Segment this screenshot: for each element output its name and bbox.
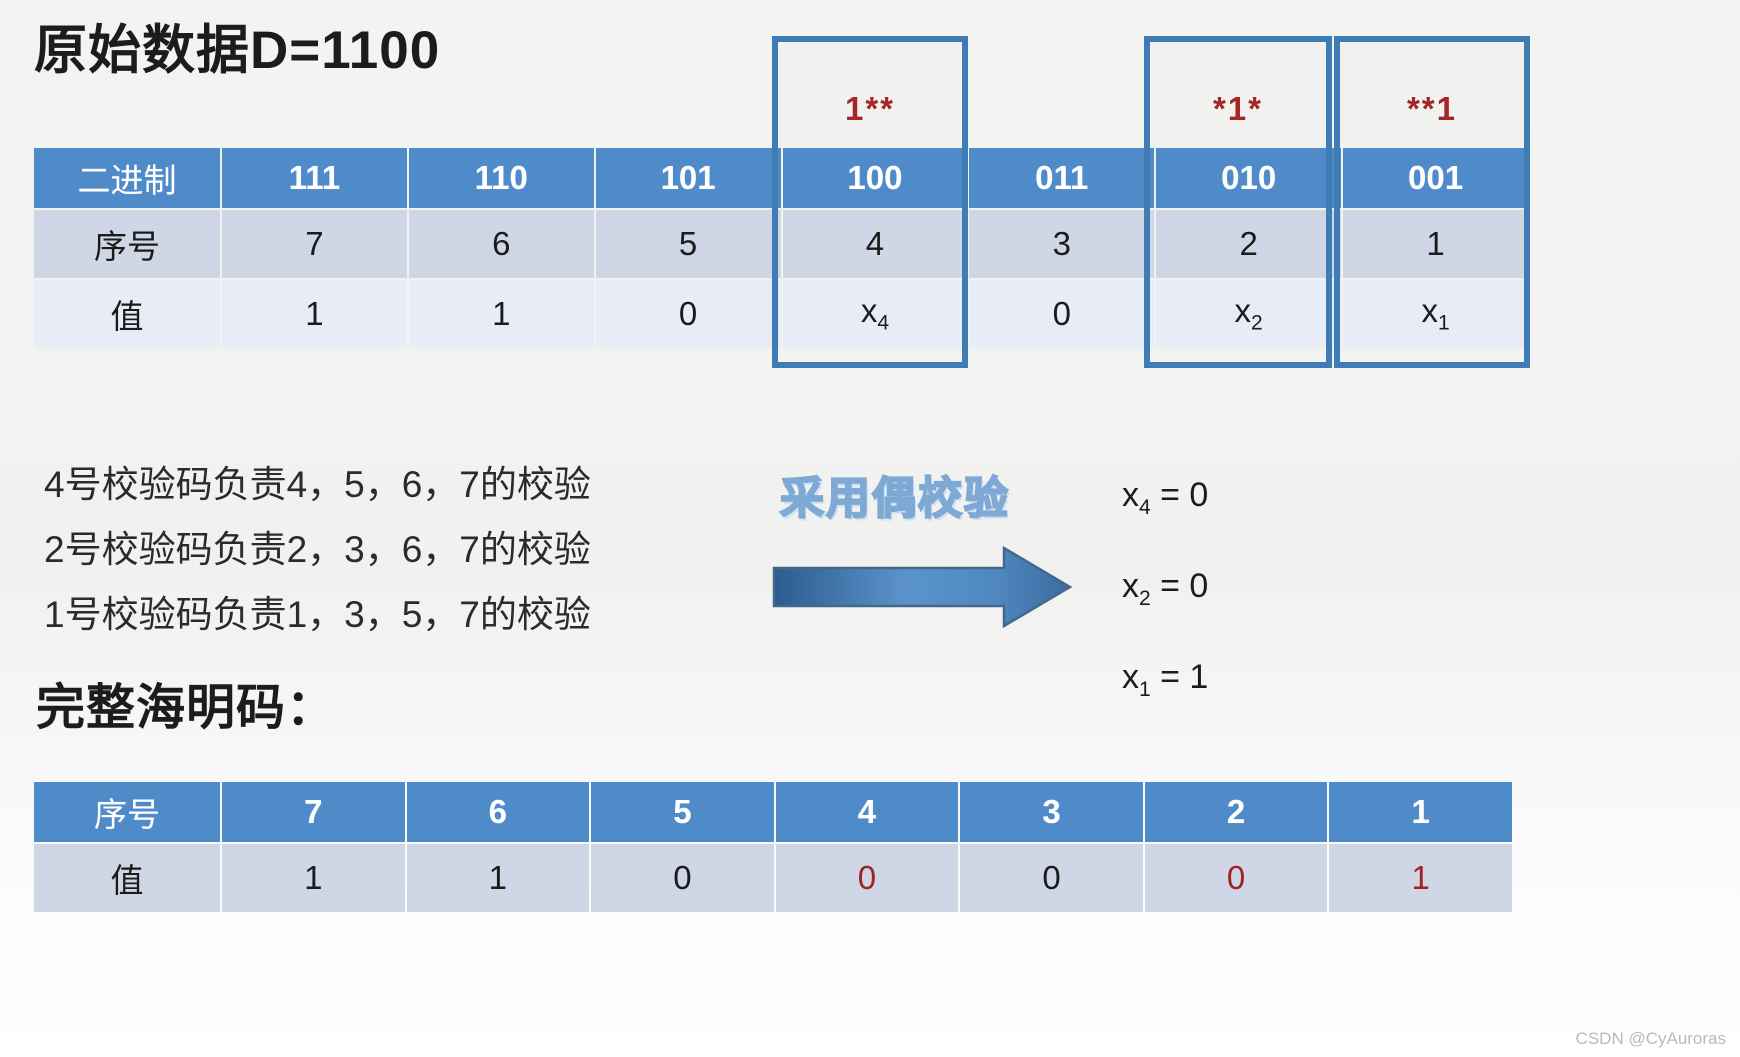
- cell-binary-1: 001: [1343, 148, 1528, 208]
- highlight-backdrop: [1150, 42, 1326, 148]
- cell-index-5: 5: [596, 210, 781, 278]
- cell-value-5: 0: [596, 280, 781, 348]
- table-row-index: 序号 7 6 5 4 3 2 1: [34, 210, 1528, 278]
- parity-rule-2: 2号校验码负责2，3，6，7的校验: [44, 517, 591, 582]
- cell-value-3: 0: [960, 844, 1143, 912]
- cell-value-1: x1: [1343, 280, 1528, 348]
- table-row-value: 值 1 1 0 0 0 0 1: [34, 844, 1512, 912]
- cell-index-1: 1: [1343, 210, 1528, 278]
- table-row-index: 序号 7 6 5 4 3 2 1: [34, 782, 1512, 842]
- cell-value-1: 1: [1329, 844, 1512, 912]
- cell-value-2: x2: [1156, 280, 1341, 348]
- cell-index-7: 7: [222, 782, 405, 842]
- cell-index-5: 5: [591, 782, 774, 842]
- cell-index-2: 2: [1145, 782, 1328, 842]
- cell-value-7: 1: [222, 844, 405, 912]
- cell-value-6: 1: [407, 844, 590, 912]
- cell-index-1: 1: [1329, 782, 1512, 842]
- right-arrow-icon: [772, 546, 1072, 628]
- result-x2: x2 = 0: [1122, 547, 1208, 638]
- cell-value-6: 1: [409, 280, 594, 348]
- highlight-backdrop: [1340, 42, 1524, 148]
- hamming-position-table: 二进制 111 110 101 100 011 010 001 序号 7 6 5…: [32, 146, 1530, 350]
- cell-binary-2: 010: [1156, 148, 1341, 208]
- parity-results-list: x4 = 0 x2 = 0 x1 = 1: [1122, 456, 1208, 728]
- cell-value-5: 0: [591, 844, 774, 912]
- highlight-label-parity-4: 1**: [778, 90, 962, 128]
- cell-index-6: 6: [407, 782, 590, 842]
- row-label-index: 序号: [34, 782, 220, 842]
- cell-index-3: 3: [960, 782, 1143, 842]
- table-row-value: 值 1 1 0 x4 0 x2 x1: [34, 280, 1528, 348]
- even-parity-wordart: 采用偶校验: [780, 462, 1010, 526]
- row-label-value: 值: [34, 844, 220, 912]
- cell-binary-5: 101: [596, 148, 781, 208]
- highlight-label-parity-2: *1*: [1150, 90, 1326, 128]
- parity-rule-4: 4号校验码负责4，5，6，7的校验: [44, 452, 591, 517]
- complete-hamming-code-table: 序号 7 6 5 4 3 2 1 值 1 1 0 0 0 0 1: [32, 780, 1514, 914]
- slide-canvas: 原始数据D=1100 二进制 111 110 101 100 011 010 0…: [0, 0, 1740, 1057]
- highlight-label-parity-1: **1: [1340, 90, 1524, 128]
- watermark-credit: CSDN @CyAuroras: [1576, 1029, 1726, 1049]
- parity-rule-1: 1号校验码负责1，3，5，7的校验: [44, 582, 591, 647]
- cell-index-3: 3: [969, 210, 1154, 278]
- row-label-index: 序号: [34, 210, 220, 278]
- cell-value-2: 0: [1145, 844, 1328, 912]
- table-row-binary: 二进制 111 110 101 100 011 010 001: [34, 148, 1528, 208]
- cell-index-4: 4: [783, 210, 968, 278]
- cell-value-7: 1: [222, 280, 407, 348]
- cell-binary-6: 110: [409, 148, 594, 208]
- result-x4: x4 = 0: [1122, 456, 1208, 547]
- cell-value-4: 0: [776, 844, 959, 912]
- page-title: 原始数据D=1100: [34, 8, 440, 84]
- cell-value-3: 0: [969, 280, 1154, 348]
- cell-binary-7: 111: [222, 148, 407, 208]
- highlight-backdrop: [778, 42, 962, 148]
- row-label-binary: 二进制: [34, 148, 220, 208]
- cell-binary-4: 100: [783, 148, 968, 208]
- cell-value-4: x4: [783, 280, 968, 348]
- cell-index-4: 4: [776, 782, 959, 842]
- cell-binary-3: 011: [969, 148, 1154, 208]
- row-label-value: 值: [34, 280, 220, 348]
- result-x1: x1 = 1: [1122, 638, 1208, 729]
- section-title-complete-code: 完整海明码：: [36, 668, 336, 739]
- parity-rules-list: 4号校验码负责4，5，6，7的校验 2号校验码负责2，3，6，7的校验 1号校验…: [44, 452, 591, 647]
- cell-index-2: 2: [1156, 210, 1341, 278]
- cell-index-7: 7: [222, 210, 407, 278]
- cell-index-6: 6: [409, 210, 594, 278]
